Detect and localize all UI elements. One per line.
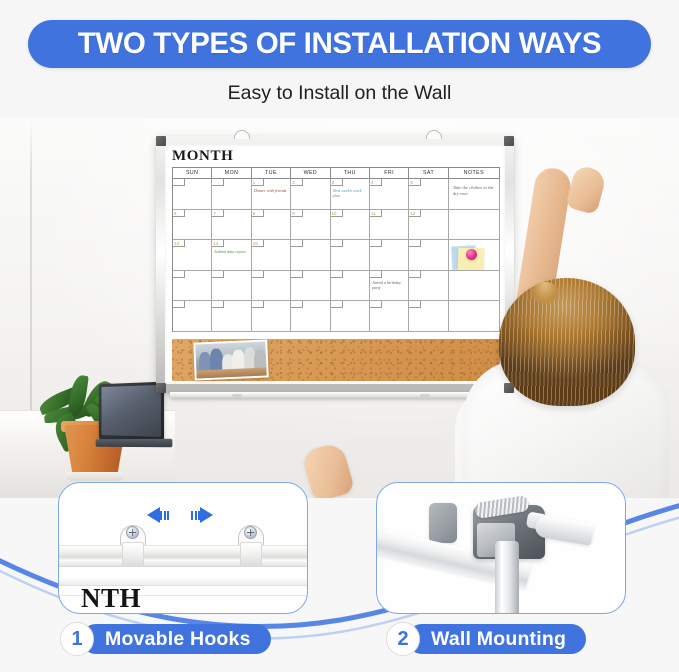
arrow-head — [147, 507, 160, 523]
arrow-dashes — [191, 511, 200, 520]
calendar-day-cell[interactable]: 14Submit data report — [212, 240, 251, 271]
calendar-day-cell[interactable] — [331, 240, 370, 271]
calendar-day-cell[interactable] — [212, 271, 251, 302]
frame-corner — [504, 136, 514, 146]
calendar-day-cell[interactable] — [409, 240, 448, 271]
wall-corner-line — [30, 118, 32, 418]
movable-hook-left — [117, 525, 149, 567]
whiteboard-hook-left-icon — [234, 130, 250, 139]
day-number: 11 — [370, 210, 382, 217]
frame-corner — [156, 383, 166, 393]
movable-hook-right — [235, 525, 267, 567]
day-number — [291, 240, 303, 247]
weekday-header: THU — [331, 168, 370, 179]
calendar-day-cell[interactable]: 8 — [252, 210, 291, 241]
day-number — [212, 301, 224, 308]
tray-tab — [232, 394, 242, 398]
calendar-day-cell[interactable]: 15 — [252, 240, 291, 271]
calendar-day-cell[interactable]: 12 — [409, 210, 448, 241]
day-number: 7 — [212, 210, 224, 217]
pinned-family-photo — [193, 339, 269, 380]
day-number — [291, 301, 303, 308]
weekday-header: SUN — [173, 168, 212, 179]
day-number — [173, 179, 185, 186]
calendar-day-cell[interactable] — [331, 271, 370, 302]
weekday-header: MON — [212, 168, 251, 179]
tray-tab — [420, 394, 430, 398]
calendar-day-cell[interactable]: 13 — [173, 240, 212, 271]
photo-image — [195, 342, 266, 379]
calendar-day-cell[interactable]: 7 — [212, 210, 251, 241]
panel-wall-mounting — [376, 482, 626, 614]
day-number — [331, 271, 343, 278]
cork-board-strip — [172, 339, 500, 381]
day-number — [252, 271, 264, 278]
frame-corner — [156, 136, 166, 146]
day-number — [252, 301, 264, 308]
calendar-grid: SUNMONTUEWEDTHUFRISATNOTES1Dinner with f… — [172, 167, 500, 332]
day-note: Next week's work plan — [333, 188, 368, 199]
day-number — [409, 271, 421, 278]
calendar-day-cell[interactable] — [173, 179, 212, 210]
person-installing-board — [455, 158, 679, 498]
calendar-day-cell[interactable] — [212, 301, 251, 332]
calendar-day-cell[interactable] — [291, 301, 330, 332]
arrow-left-icon — [147, 507, 169, 523]
calendar-day-cell[interactable] — [212, 179, 251, 210]
hair-parting — [531, 282, 559, 304]
hook-body — [240, 542, 262, 567]
frame-corner — [504, 383, 514, 393]
day-number: 2 — [291, 179, 303, 186]
day-number: 12 — [409, 210, 421, 217]
weekday-header: FRI — [370, 168, 409, 179]
title-badge: TWO TYPES OF INSTALLATION WAYS — [28, 20, 651, 68]
whiteboard-hook-right-icon — [426, 130, 442, 139]
arrow-dashes — [160, 511, 169, 520]
calendar-day-cell[interactable] — [252, 271, 291, 302]
day-number — [331, 240, 343, 247]
day-number: 10 — [331, 210, 343, 217]
room-scene: MONTH SUNMONTUEWEDTHUFRISATNOTES1Dinner … — [0, 118, 679, 498]
raised-hand — [565, 164, 607, 215]
day-number: 13 — [173, 240, 185, 247]
calendar-day-cell[interactable] — [331, 301, 370, 332]
day-number — [212, 271, 224, 278]
page-subtitle: Easy to Install on the Wall — [0, 82, 679, 105]
screw-icon — [126, 526, 139, 539]
day-number — [370, 240, 382, 247]
page-title: TWO TYPES OF INSTALLATION WAYS — [78, 27, 601, 61]
label-text-hooks: Movable Hooks — [81, 624, 271, 654]
weekday-header: WED — [291, 168, 330, 179]
calendar-day-cell[interactable] — [173, 271, 212, 302]
hook-body — [122, 542, 144, 567]
calendar-day-cell[interactable]: 10 — [331, 210, 370, 241]
marker-tray — [170, 392, 500, 399]
day-note: Submit data report — [214, 249, 249, 254]
day-number: 15 — [252, 240, 264, 247]
calendar-day-cell[interactable]: 1Dinner with friends — [252, 179, 291, 210]
arrow-head — [200, 507, 213, 523]
day-number — [370, 301, 382, 308]
day-number — [173, 301, 185, 308]
label-movable-hooks: 1 Movable Hooks — [60, 622, 271, 656]
label-text-mounting: Wall Mounting — [407, 624, 586, 654]
calendar-day-cell[interactable] — [291, 271, 330, 302]
calendar-day-cell[interactable]: 4 — [370, 179, 409, 210]
calendar-day-cell[interactable]: 9 — [291, 210, 330, 241]
wall-anchor-plate — [429, 503, 457, 543]
step-number-2: 2 — [386, 622, 420, 656]
weekday-header: TUE — [252, 168, 291, 179]
photo-table — [196, 368, 266, 379]
calendar-day-cell[interactable]: Attend a birthday party — [370, 271, 409, 302]
calendar-day-cell[interactable] — [409, 271, 448, 302]
calendar-day-cell[interactable]: 5 — [409, 179, 448, 210]
day-number — [409, 240, 421, 247]
day-number: 8 — [252, 210, 264, 217]
laptop-base — [96, 439, 173, 447]
laptop — [92, 383, 174, 461]
laptop-screen — [99, 382, 164, 443]
day-number: 1 — [252, 179, 264, 186]
day-note: Attend a birthday party — [372, 280, 407, 291]
screw-icon — [244, 526, 257, 539]
calendar-day-cell[interactable]: 3Next week's work plan — [331, 179, 370, 210]
day-number — [331, 301, 343, 308]
hair — [499, 278, 635, 406]
calendar-day-cell[interactable] — [409, 301, 448, 332]
header-band: TWO TYPES OF INSTALLATION WAYS Easy to I… — [0, 0, 679, 118]
partial-month-text: NTH — [81, 583, 141, 614]
bottom-feature-section: NTH 1 Movable Hooks 2 Wall Mounting — [0, 470, 679, 672]
calendar-day-cell[interactable] — [173, 301, 212, 332]
panel-movable-hooks: NTH — [58, 482, 308, 614]
calendar-day-cell[interactable] — [291, 240, 330, 271]
day-number — [370, 271, 382, 278]
label-wall-mounting: 2 Wall Mounting — [386, 622, 586, 656]
month-title: MONTH — [172, 148, 233, 165]
calendar-day-cell[interactable]: 6 — [173, 210, 212, 241]
step-number-1: 1 — [60, 622, 94, 656]
calendar-day-cell[interactable] — [252, 301, 291, 332]
day-number — [291, 271, 303, 278]
day-number: 4 — [370, 179, 382, 186]
day-number: 9 — [291, 210, 303, 217]
day-number — [173, 271, 185, 278]
board-rail — [58, 545, 308, 567]
day-note: Dinner with friends — [254, 188, 289, 193]
day-number: 6 — [173, 210, 185, 217]
calendar-day-cell[interactable]: 11 — [370, 210, 409, 241]
laptop-display — [102, 385, 161, 437]
calendar-day-cell[interactable] — [370, 301, 409, 332]
weekday-header: SAT — [409, 168, 448, 179]
board-frame-post — [495, 541, 519, 614]
day-number — [409, 301, 421, 308]
day-number — [212, 179, 224, 186]
day-number: 5 — [409, 179, 421, 186]
day-number: 3 — [331, 179, 343, 186]
calendar-day-cell[interactable] — [370, 240, 409, 271]
whiteboard-surface: MONTH SUNMONTUEWEDTHUFRISATNOTES1Dinner … — [165, 145, 505, 384]
day-number: 14 — [212, 240, 224, 247]
calendar-day-cell[interactable]: 2 — [291, 179, 330, 210]
arrow-right-icon — [191, 507, 213, 523]
